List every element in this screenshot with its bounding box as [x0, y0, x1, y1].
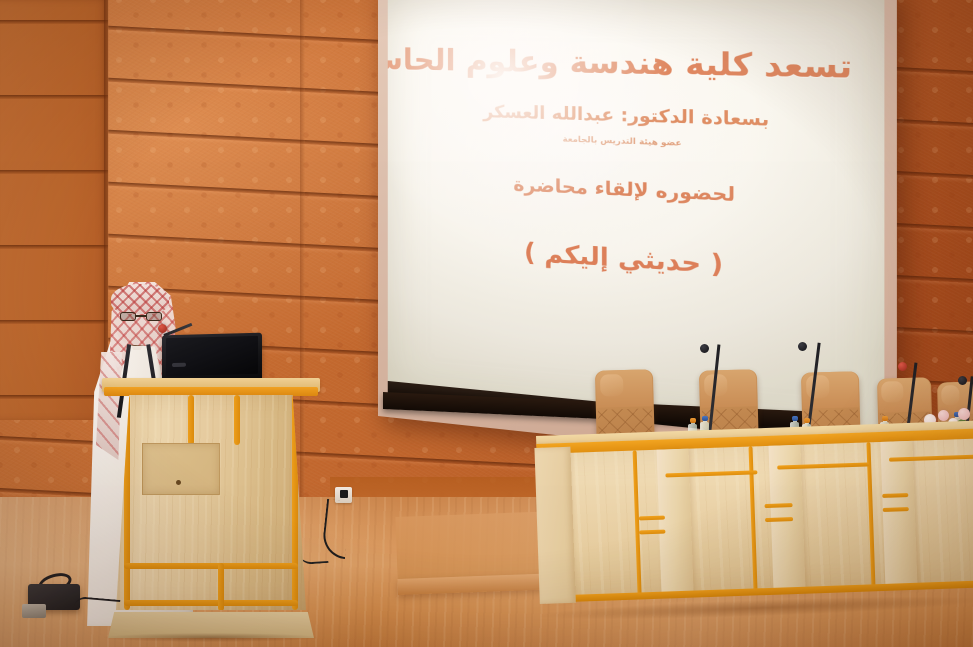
slide-lecture-title-line: ( حديثي إليكم )	[413, 231, 852, 288]
lectern-wood-grain	[116, 395, 306, 610]
table-left-end-panel	[534, 447, 575, 604]
eyeglass-bridge	[136, 315, 146, 317]
wall-groove	[0, 170, 108, 174]
microphone-head-icon	[958, 376, 967, 385]
flower-bloom	[938, 410, 949, 421]
slide-guest-line: بسعادة الدكتور: عبدالله العسكر	[413, 100, 852, 134]
lectern	[100, 378, 322, 636]
lectern-trim-line	[234, 395, 240, 445]
wall-groove	[0, 245, 108, 249]
lectern-trim-line	[188, 395, 194, 445]
bottle-cap	[804, 418, 810, 423]
slide-title-line: تسعد كلية هندسة وعلوم الحاسب	[413, 42, 852, 85]
lectern-trim-line	[124, 395, 130, 610]
bottle-cap	[702, 416, 708, 421]
eyeglass-lens	[146, 312, 162, 321]
eyeglasses-icon	[120, 312, 162, 321]
laptop	[162, 333, 262, 382]
slide-role-line: عضو هيئة التدريس بالجامعة	[413, 129, 852, 154]
lectern-body	[116, 395, 306, 610]
wall-groove	[0, 95, 108, 99]
table-front-face	[537, 439, 973, 602]
lectern-trim-line	[124, 563, 298, 569]
eyeglass-lens	[120, 312, 136, 321]
bottle-cap	[690, 418, 696, 423]
lectern-trim-line	[218, 563, 224, 611]
lectern-trim-line	[124, 600, 298, 606]
lectern-recessed-panel	[142, 443, 220, 495]
lectern-top-trim	[104, 387, 318, 396]
head-table	[536, 421, 973, 616]
table-pilaster	[657, 449, 694, 598]
floor-equipment-plate	[22, 604, 46, 618]
podium-microphone-head-icon	[158, 324, 167, 333]
lecture-hall-photograph: تسعد كلية هندسة وعلوم الحاسب بسعادة الدك…	[0, 0, 973, 647]
bottle-cap	[882, 416, 888, 421]
laptop-screen	[166, 336, 258, 376]
chair-highlight	[600, 374, 624, 397]
ghutra-crown	[111, 284, 169, 314]
bottle-cap	[792, 416, 798, 421]
microphone-head-icon	[898, 362, 907, 371]
plug-icon	[340, 490, 348, 498]
flower-bloom	[958, 408, 970, 420]
slide-purpose-line: لحضوره لإلقاء محاضرة	[413, 170, 852, 213]
wall-groove	[0, 20, 108, 24]
lectern-knob	[176, 480, 181, 485]
lectern-trim-line	[292, 395, 298, 610]
table-pilaster	[880, 441, 917, 590]
microphone-head-icon	[700, 344, 709, 353]
laptop-glint	[172, 363, 186, 367]
microphone-head-icon	[798, 342, 807, 351]
lectern-floor-shadow	[104, 633, 318, 642]
